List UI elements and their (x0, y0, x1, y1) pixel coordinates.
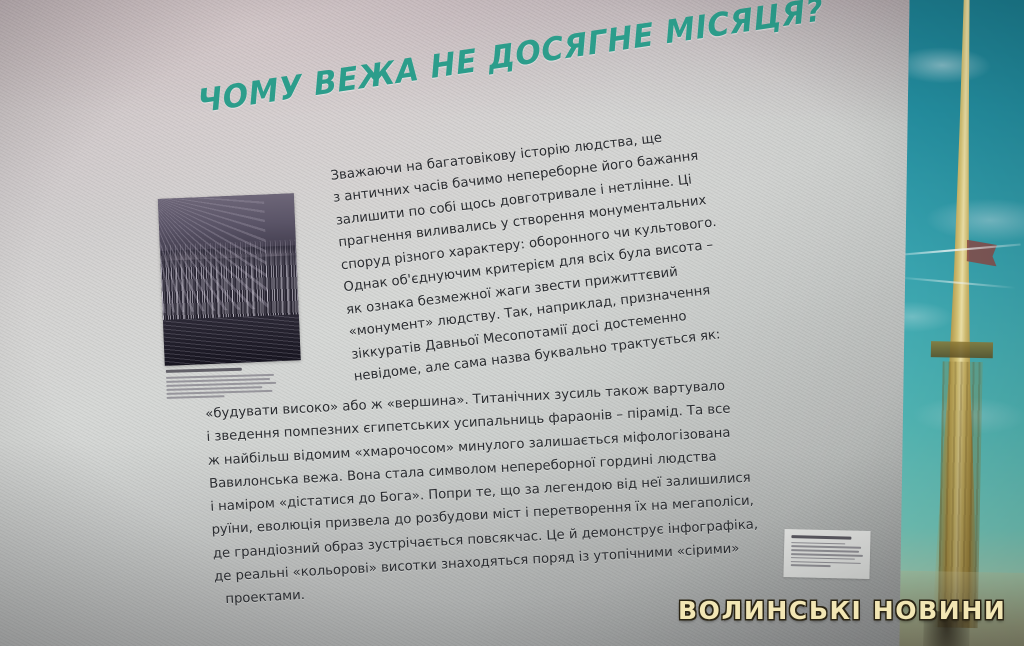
watermark: ВОЛИНСЬКІ НОВИНИ (678, 596, 1006, 625)
exhibit-caption-card (783, 529, 870, 579)
caption-body-line (791, 564, 831, 567)
caption-body-line (791, 561, 861, 564)
caption-body-line (791, 542, 845, 545)
screenshot-root: ЧОМУ ВЕЖА НЕ ДОСЯГНЕ МІСЯЦЯ? (0, 0, 1024, 646)
caption-body-line (791, 549, 859, 552)
illustration-caption-text (166, 367, 279, 401)
caption-body-line (166, 390, 272, 395)
caption-heading-line (166, 368, 242, 373)
illustration-block (159, 194, 301, 398)
caption-body-line (791, 553, 863, 556)
caption-body-line (167, 395, 225, 399)
caption-heading-line (791, 535, 851, 539)
paragraph-bottom: «будувати високо» або ж «вершина». Титан… (205, 378, 761, 616)
panel-content-layer: ЧОМУ ВЕЖА НЕ ДОСЯГНЕ МІСЯЦЯ? (0, 0, 1024, 646)
caption-body-line (791, 545, 861, 548)
caption-body-line (791, 557, 855, 560)
engraving-foreground-city (163, 314, 301, 366)
panel-headline-text: ЧОМУ ВЕЖА НЕ ДОСЯГНЕ МІСЯЦЯ? (197, 0, 826, 119)
paragraph-top: Зважаючи на багатовікову історію людства… (330, 127, 731, 393)
tower-city-engraving (158, 193, 301, 366)
panel-headline: ЧОМУ ВЕЖА НЕ ДОСЯГНЕ МІСЯЦЯ? (196, 9, 735, 118)
